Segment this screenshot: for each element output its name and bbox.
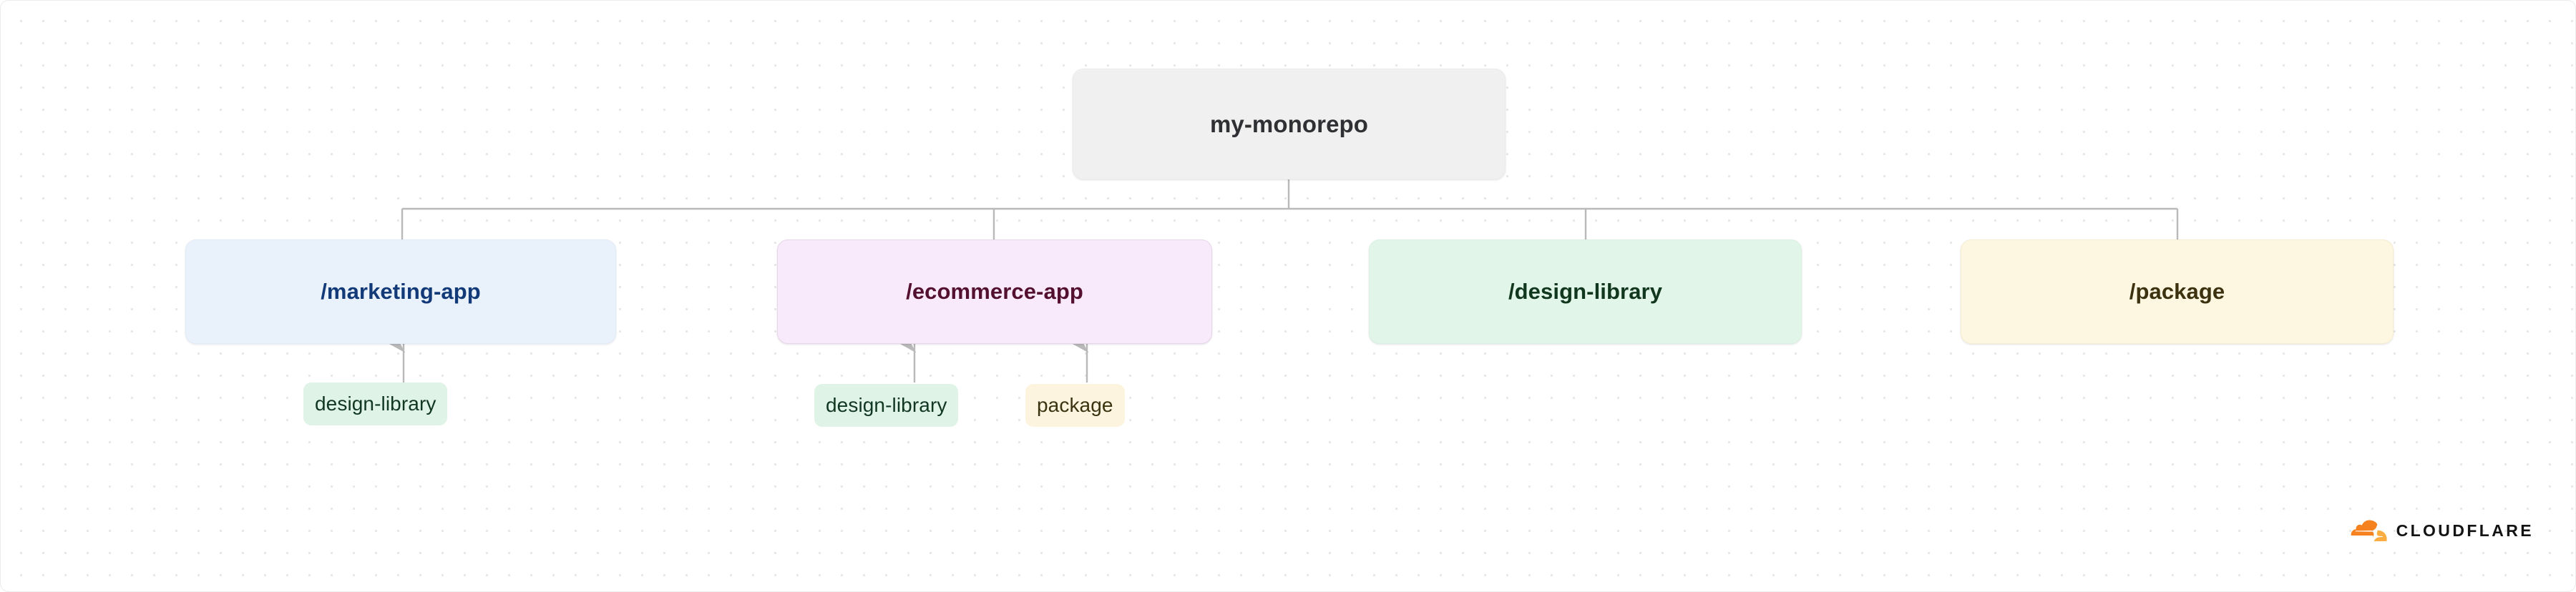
- node-marketing-app[interactable]: /marketing-app: [185, 240, 616, 344]
- chip-ecommerce-app-design-library[interactable]: design-library: [814, 384, 958, 427]
- diagram-canvas[interactable]: my-monorepo /marketing-app /ecommerce-ap…: [0, 0, 2576, 592]
- chip-ecommerce-app-package[interactable]: package: [1025, 384, 1125, 427]
- chip-label: design-library: [315, 393, 436, 415]
- node-label: /marketing-app: [321, 279, 481, 305]
- node-label: /design-library: [1508, 279, 1662, 305]
- chip-label: package: [1037, 394, 1113, 417]
- cloudflare-logo: CLOUDFLARE: [2340, 520, 2534, 541]
- chip-marketing-app-design-library[interactable]: design-library: [303, 383, 447, 425]
- node-my-monorepo[interactable]: my-monorepo: [1073, 69, 1506, 179]
- cloudflare-wordmark: CLOUDFLARE: [2396, 523, 2534, 539]
- node-ecommerce-app[interactable]: /ecommerce-app: [777, 240, 1212, 344]
- cloudflare-cloud-icon: [2340, 520, 2387, 541]
- node-label: /package: [2129, 279, 2225, 305]
- chip-label: design-library: [826, 394, 947, 417]
- node-package[interactable]: /package: [1961, 240, 2394, 344]
- node-label: /ecommerce-app: [906, 279, 1083, 305]
- node-design-library[interactable]: /design-library: [1369, 240, 1802, 344]
- node-label: my-monorepo: [1210, 111, 1368, 138]
